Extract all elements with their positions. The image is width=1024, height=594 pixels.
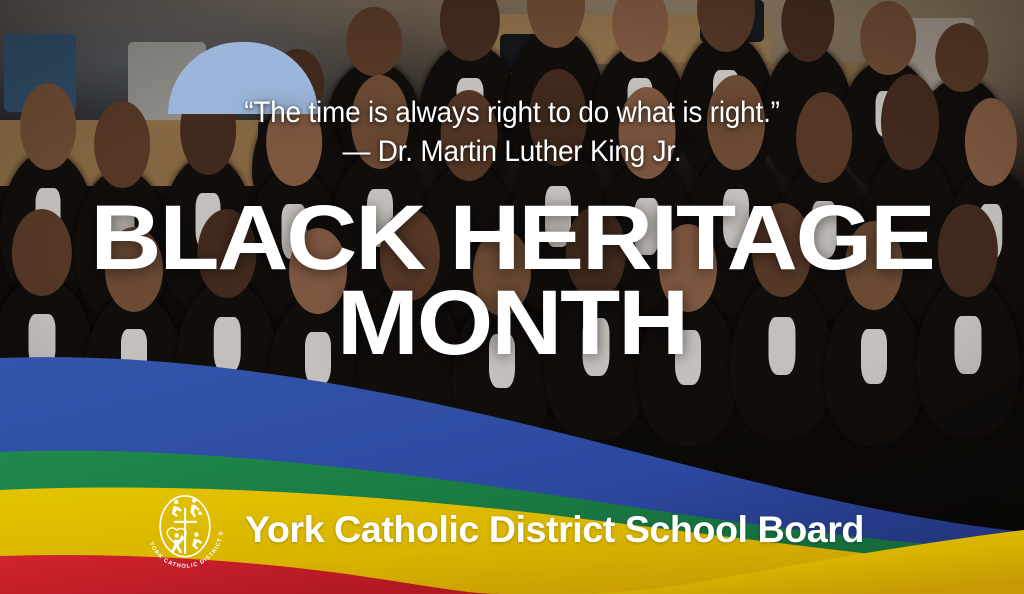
black-heritage-month-poster: “The time is always right to do what is … — [0, 0, 1024, 594]
title-line-1: BLACK HERITAGE — [0, 196, 1024, 281]
page-title: BLACK HERITAGE MONTH — [0, 196, 1024, 365]
quote-block: “The time is always right to do what is … — [0, 95, 1024, 171]
footer-branding: YORK CATHOLIC DISTRICT SCHOOL BOARD York… — [139, 484, 852, 576]
board-name-label: York Catholic District School Board — [245, 509, 864, 551]
quote-text: “The time is always right to do what is … — [36, 95, 988, 132]
quote-attribution: — Dr. Martin Luther King Jr. — [36, 132, 988, 171]
school-board-crest-icon: YORK CATHOLIC DISTRICT SCHOOL BOARD — [139, 484, 231, 576]
